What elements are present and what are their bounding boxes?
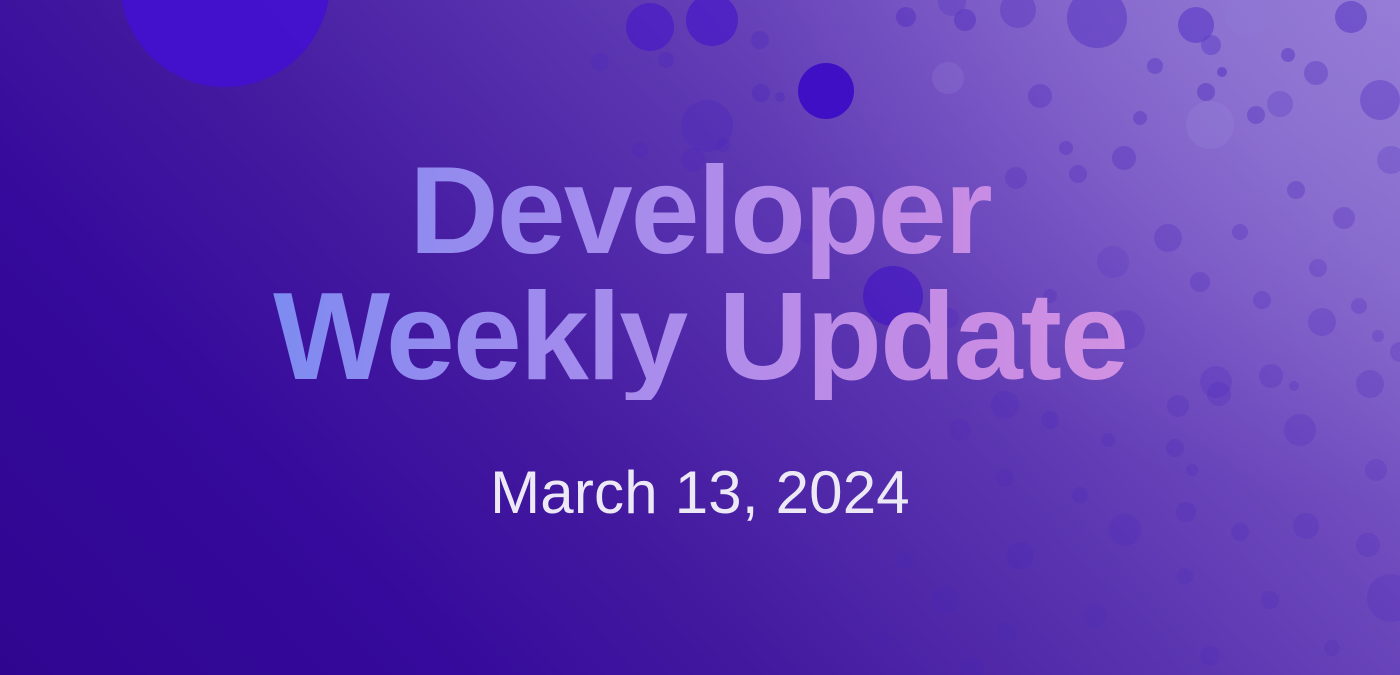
slide-date: March 13, 2024 (490, 458, 910, 527)
title-slide: Developer Weekly Update March 13, 2024 (0, 0, 1400, 675)
page-title: Developer Weekly Update (260, 148, 1140, 401)
slide-content: Developer Weekly Update March 13, 2024 (0, 0, 1400, 675)
